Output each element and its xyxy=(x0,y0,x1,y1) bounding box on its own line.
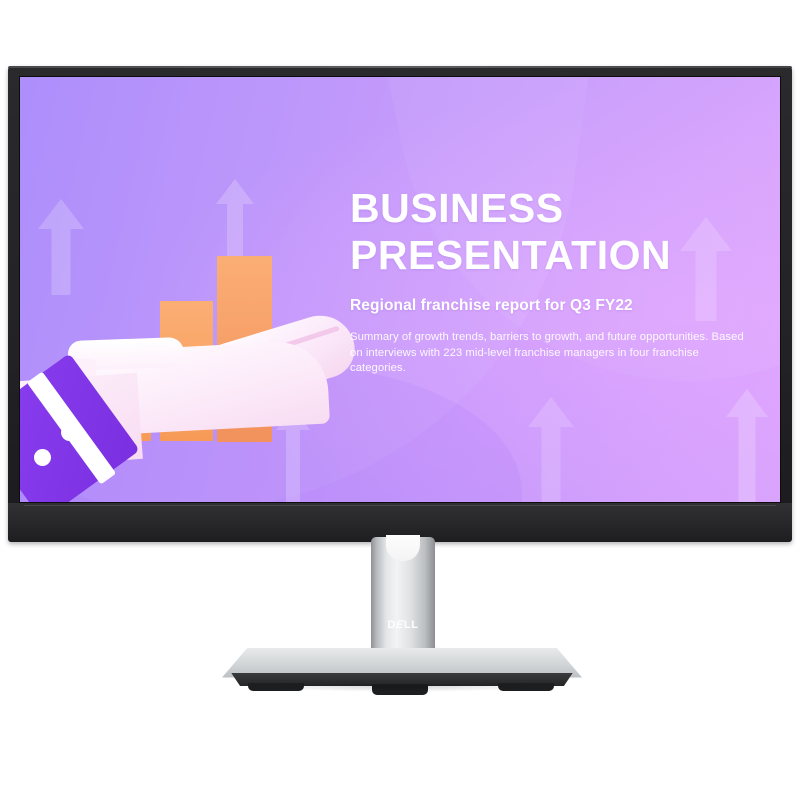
bg-arrow-far-right-icon xyxy=(726,389,768,502)
product-photo-canvas: BUSINESS PRESENTATION Regional franchise… xyxy=(0,0,800,800)
slide-title: BUSINESS PRESENTATION xyxy=(350,185,750,279)
dell-brand-logo: DELL xyxy=(371,619,435,631)
cable-management-slot xyxy=(386,535,420,561)
bg-arrow-lower-right-icon xyxy=(528,397,574,502)
slide-text-block: BUSINESS PRESENTATION Regional franchise… xyxy=(350,185,750,377)
bezel-highlight xyxy=(24,505,777,506)
sleeve-button-2 xyxy=(61,424,78,441)
slide-subtitle: Regional franchise report for Q3 FY22 xyxy=(350,296,750,316)
sleeve-button-1 xyxy=(34,449,51,466)
slide-title-line-1: BUSINESS xyxy=(350,185,564,231)
stand-base-shadow xyxy=(214,684,590,696)
screen-inset: BUSINESS PRESENTATION Regional franchise… xyxy=(19,76,781,503)
slide-body-text: Summary of growth trends, barriers to gr… xyxy=(350,330,746,377)
presentation-slide: BUSINESS PRESENTATION Regional franchise… xyxy=(20,77,780,502)
monitor-stand-neck: DELL xyxy=(371,537,435,661)
monitor-screen: BUSINESS PRESENTATION Regional franchise… xyxy=(20,77,780,502)
dell-logo-letters-ll: LL xyxy=(404,619,419,631)
hand-holding-bar-chart-illustration xyxy=(20,77,350,502)
slide-title-line-2: PRESENTATION xyxy=(350,232,671,278)
monitor-bezel: BUSINESS PRESENTATION Regional franchise… xyxy=(8,66,792,542)
